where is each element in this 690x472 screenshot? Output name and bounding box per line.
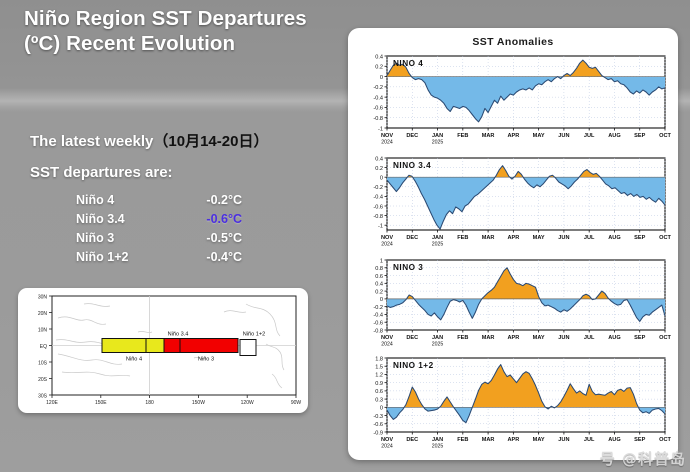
reading-row: Niño 4-0.2°C — [76, 190, 291, 209]
weekly-prefix: The latest weekly — [30, 133, 153, 150]
panel-ytick-label: 0 — [380, 75, 383, 81]
panel-year-label: 2024 — [381, 140, 393, 146]
panel-ytick-label: -0.8 — [373, 116, 383, 122]
panel-year-label: 2025 — [432, 342, 444, 348]
reading-value: -0.4°C — [172, 250, 242, 264]
sst-anomalies-card: SST Anomalies 0.40.20-0.2-0.4-0.6-0.8-1N… — [348, 28, 678, 460]
panel-year-label: 2025 — [432, 444, 444, 450]
panel-ytick-label: 0.2 — [375, 289, 383, 295]
panel-ytick-label: -0.6 — [373, 106, 383, 112]
map-xtick-label: 150W — [192, 400, 205, 406]
map-xtick-label: 120W — [241, 400, 254, 406]
map-ytick-label: 20N — [38, 311, 48, 317]
reading-row: Niño 3-0.5°C — [76, 228, 291, 247]
panel-ytick-label: -0.8 — [373, 214, 383, 220]
panel-xtick-label: JAN — [432, 235, 443, 241]
panel-xtick-label: MAR — [482, 335, 495, 341]
panel-ytick-label: 0.2 — [375, 166, 383, 172]
panel-xtick-label: AUG — [608, 235, 620, 241]
panel-xtick-label: MAY — [533, 235, 545, 241]
map-xtick-label: 120E — [46, 400, 58, 406]
panel-region-name: NINO 3 — [393, 263, 423, 272]
panel-xtick-label: JAN — [432, 133, 443, 139]
map-xtick-label: 150E — [95, 400, 107, 406]
weekly-date-cn: （10月14-20日） — [153, 133, 268, 150]
panel-xtick-label: OCT — [659, 235, 671, 241]
panel-ytick-label: 1.2 — [375, 373, 383, 379]
readings-list: Niño 4-0.2°CNiño 3.4-0.6°CNiño 3-0.5°CNi… — [76, 190, 291, 266]
reading-region: Niño 3.4 — [76, 212, 172, 226]
panel-ytick-label: 0.8 — [375, 266, 383, 272]
panel-xtick-label: FEB — [457, 335, 468, 341]
panel-xtick-label: SEP — [634, 133, 645, 139]
chart-panel-nino3: 10.80.60.40.20-0.2-0.4-0.6-0.8NOV2024DEC… — [353, 256, 673, 352]
panel-region-name: NINO 3.4 — [393, 161, 431, 170]
map-ytick-label: 20S — [38, 377, 48, 383]
panel-ytick-label: -0.6 — [373, 204, 383, 210]
panel-ytick-label: -0.4 — [373, 95, 383, 101]
panel-ytick-label: -0.4 — [373, 195, 383, 201]
panel-xtick-label: JUN — [558, 335, 569, 341]
panel-ytick-label: -1 — [378, 224, 383, 230]
reading-region: Niño 3 — [76, 231, 172, 245]
map-xtick-label: 180 — [145, 400, 154, 406]
panel-ytick-label: -0.6 — [373, 422, 383, 428]
latest-weekly-line: The latest weekly（10月14-20日） — [30, 130, 340, 151]
panel-ytick-label: 0.9 — [375, 381, 383, 387]
panel-xtick-label: MAR — [482, 437, 495, 443]
panel-xtick-label: FEB — [457, 133, 468, 139]
panel-xtick-label: MAY — [533, 133, 545, 139]
panel-ytick-label: -0.4 — [373, 313, 383, 319]
panel-ytick-label: 0.4 — [375, 156, 383, 162]
panel-ytick-label: -0.2 — [373, 85, 383, 91]
panel-ytick-label: 0 — [380, 297, 383, 303]
anomaly-chart-nino12: 1.81.51.20.90.60.30-0.3-0.6-0.9NOV2024DE… — [353, 354, 673, 454]
panel-xtick-label: NOV — [381, 437, 393, 443]
panel-xtick-label: AUG — [608, 335, 620, 341]
panel-year-label: 2024 — [381, 242, 393, 248]
panel-frame — [387, 56, 665, 128]
reading-value: -0.2°C — [172, 193, 242, 207]
panel-xtick-label: JUL — [584, 235, 595, 241]
chart-panel-nino12: 1.81.51.20.90.60.30-0.3-0.6-0.9NOV2024DE… — [353, 354, 673, 454]
page-title: Niño Region SST Departures (ºC) Recent E… — [24, 6, 334, 56]
panel-region-name: NINO 4 — [393, 59, 423, 68]
panel-year-label: 2025 — [432, 242, 444, 248]
nino-region-map: 30N20N10NEQ10S20S30S120E150E180150W120W9… — [18, 288, 308, 413]
reading-region: Niño 1+2 — [76, 250, 172, 264]
panel-xtick-label: SEP — [634, 235, 645, 241]
panel-xtick-label: NOV — [381, 235, 393, 241]
panel-xtick-label: JUN — [558, 133, 569, 139]
panel-ytick-label: 0.3 — [375, 397, 383, 403]
panel-ytick-label: 0.6 — [375, 274, 383, 280]
panel-xtick-label: DEC — [406, 335, 418, 341]
reading-region: Niño 4 — [76, 193, 172, 207]
chart-panel-nino34: 0.40.20-0.2-0.4-0.6-0.8-1NOV2024DECJAN20… — [353, 154, 673, 252]
panel-ytick-label: -0.3 — [373, 414, 383, 420]
nino-box-label: Niño 3.4 — [168, 332, 189, 338]
panel-xtick-label: JUL — [584, 133, 595, 139]
slide-root: Niño Region SST Departures (ºC) Recent E… — [0, 0, 690, 472]
chart-title: SST Anomalies — [348, 36, 678, 48]
panel-xtick-label: APR — [507, 437, 519, 443]
panel-xtick-label: MAR — [482, 235, 495, 241]
panel-ytick-label: 0.4 — [375, 54, 383, 60]
panel-xtick-label: JAN — [432, 335, 443, 341]
panel-ytick-label: 1.5 — [375, 365, 383, 371]
panel-ytick-label: -0.2 — [373, 185, 383, 191]
panel-ytick-label: 0.6 — [375, 389, 383, 395]
panel-xtick-label: APR — [507, 335, 519, 341]
nino-box-label: Niño 1+2 — [243, 332, 266, 338]
panel-xtick-label: JUL — [584, 335, 595, 341]
panel-xtick-label: JUN — [558, 437, 569, 443]
panel-xtick-label: APR — [507, 235, 519, 241]
panel-xtick-label: APR — [507, 133, 519, 139]
panel-xtick-label: AUG — [608, 133, 620, 139]
panel-xtick-label: MAR — [482, 133, 495, 139]
panel-xtick-label: FEB — [457, 235, 468, 241]
panel-ytick-label: 0 — [380, 176, 383, 182]
map-ytick-label: EQ — [40, 344, 47, 350]
anomaly-chart-nino34: 0.40.20-0.2-0.4-0.6-0.8-1NOV2024DECJAN20… — [353, 154, 673, 252]
nino-box-label: Niño 4 — [126, 357, 142, 363]
panel-xtick-label: OCT — [659, 133, 671, 139]
panel-ytick-label: 0.2 — [375, 65, 383, 71]
nino-box-nino3 — [164, 339, 238, 353]
panel-xtick-label: JAN — [432, 437, 443, 443]
reading-row: Niño 3.4-0.6°C — [76, 209, 291, 228]
panel-ytick-label: 0.4 — [375, 282, 383, 288]
panel-ytick-label: -0.9 — [373, 430, 383, 436]
sst-departures-label: SST departures are: — [30, 164, 173, 181]
chart-panel-nino4: 0.40.20-0.2-0.4-0.6-0.8-1NOV2024DECJAN20… — [353, 52, 673, 150]
watermark: 号 @科普岛 — [600, 448, 686, 469]
map-ytick-label: 30S — [38, 394, 48, 400]
nino-box-nino12 — [240, 340, 256, 356]
reading-value: -0.6°C — [172, 212, 242, 226]
panel-xtick-label: MAY — [533, 335, 545, 341]
panel-xtick-label: MAY — [533, 437, 545, 443]
panel-ytick-label: -1 — [378, 126, 383, 132]
map-ytick-label: 10N — [38, 328, 48, 334]
panel-year-label: 2025 — [432, 140, 444, 146]
reading-row: Niño 1+2-0.4°C — [76, 247, 291, 266]
panel-ytick-label: 1 — [380, 258, 383, 264]
panel-ytick-label: 0 — [380, 406, 383, 412]
map-xtick-label: 90W — [291, 400, 302, 406]
panel-ytick-label: -0.8 — [373, 328, 383, 334]
panel-xtick-label: DEC — [406, 235, 418, 241]
panel-xtick-label: FEB — [457, 437, 468, 443]
nino-region-map-card: 30N20N10NEQ10S20S30S120E150E180150W120W9… — [18, 288, 308, 413]
map-ytick-label: 10S — [38, 361, 48, 367]
panel-xtick-label: SEP — [634, 437, 645, 443]
panel-xtick-label: AUG — [608, 437, 620, 443]
panel-year-label: 2024 — [381, 342, 393, 348]
panel-ytick-label: -0.2 — [373, 305, 383, 311]
panel-ytick-label: -0.6 — [373, 321, 383, 327]
anomaly-chart-nino4: 0.40.20-0.2-0.4-0.6-0.8-1NOV2024DECJAN20… — [353, 52, 673, 150]
nino-box-label: Niño 3 — [198, 357, 214, 363]
panel-xtick-label: SEP — [634, 335, 645, 341]
panel-year-label: 2024 — [381, 444, 393, 450]
panel-xtick-label: NOV — [381, 335, 393, 341]
map-ytick-label: 30N — [38, 295, 48, 301]
panel-xtick-label: JUN — [558, 235, 569, 241]
reading-value: -0.5°C — [172, 231, 242, 245]
panel-xtick-label: DEC — [406, 437, 418, 443]
anomaly-chart-nino3: 10.80.60.40.20-0.2-0.4-0.6-0.8NOV2024DEC… — [353, 256, 673, 352]
panel-xtick-label: NOV — [381, 133, 393, 139]
panel-xtick-label: DEC — [406, 133, 418, 139]
panel-region-name: NINO 1+2 — [393, 361, 434, 370]
nino-box-nino4 — [102, 339, 164, 353]
panel-xtick-label: OCT — [659, 437, 671, 443]
panel-xtick-label: JUL — [584, 437, 595, 443]
panel-ytick-label: 1.8 — [375, 356, 383, 362]
panel-xtick-label: OCT — [659, 335, 671, 341]
